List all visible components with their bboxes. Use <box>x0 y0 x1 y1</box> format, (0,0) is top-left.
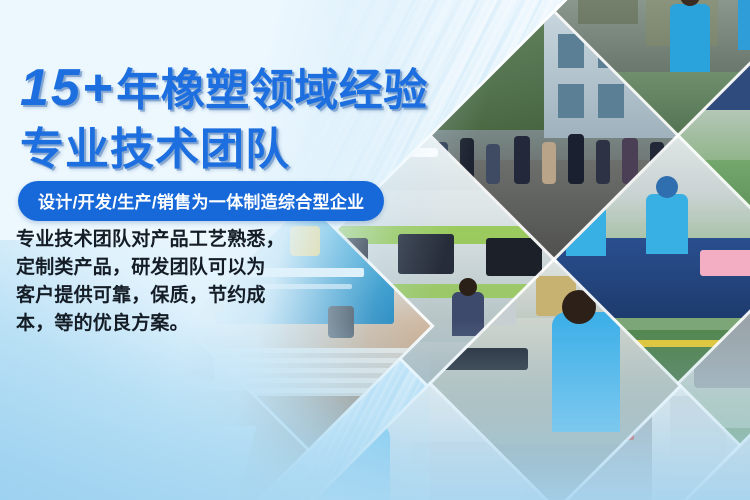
description-line-2: 定制类产品，研发团队可以为 <box>16 254 296 282</box>
description-line-3: 客户提供可靠，保质，节约成 <box>16 282 296 310</box>
capability-badge: 设计/开发/生产/销售为一体制造综合型企业 <box>18 181 384 221</box>
headline-line-2: 专业技术团队 <box>20 113 290 177</box>
description-line-1: 专业技术团队对产品工艺熟悉， <box>16 226 296 254</box>
description-paragraph: 专业技术团队对产品工艺熟悉， 定制类产品，研发团队可以为 客户提供可靠，保质，节… <box>16 226 296 338</box>
headline-line-1: 15+年橡塑领域经验 <box>20 54 428 118</box>
headline-line-1-rest: 年橡塑领域经验 <box>116 66 428 115</box>
promo-banner: 15+年橡塑领域经验 专业技术团队 设计/开发/生产/销售为一体制造综合型企业 … <box>0 0 750 500</box>
years-number: 15+ <box>20 59 114 117</box>
text-block: 15+年橡塑领域经验 专业技术团队 设计/开发/生产/销售为一体制造综合型企业 … <box>0 0 470 500</box>
description-line-4: 本，等的优良方案。 <box>16 310 296 338</box>
